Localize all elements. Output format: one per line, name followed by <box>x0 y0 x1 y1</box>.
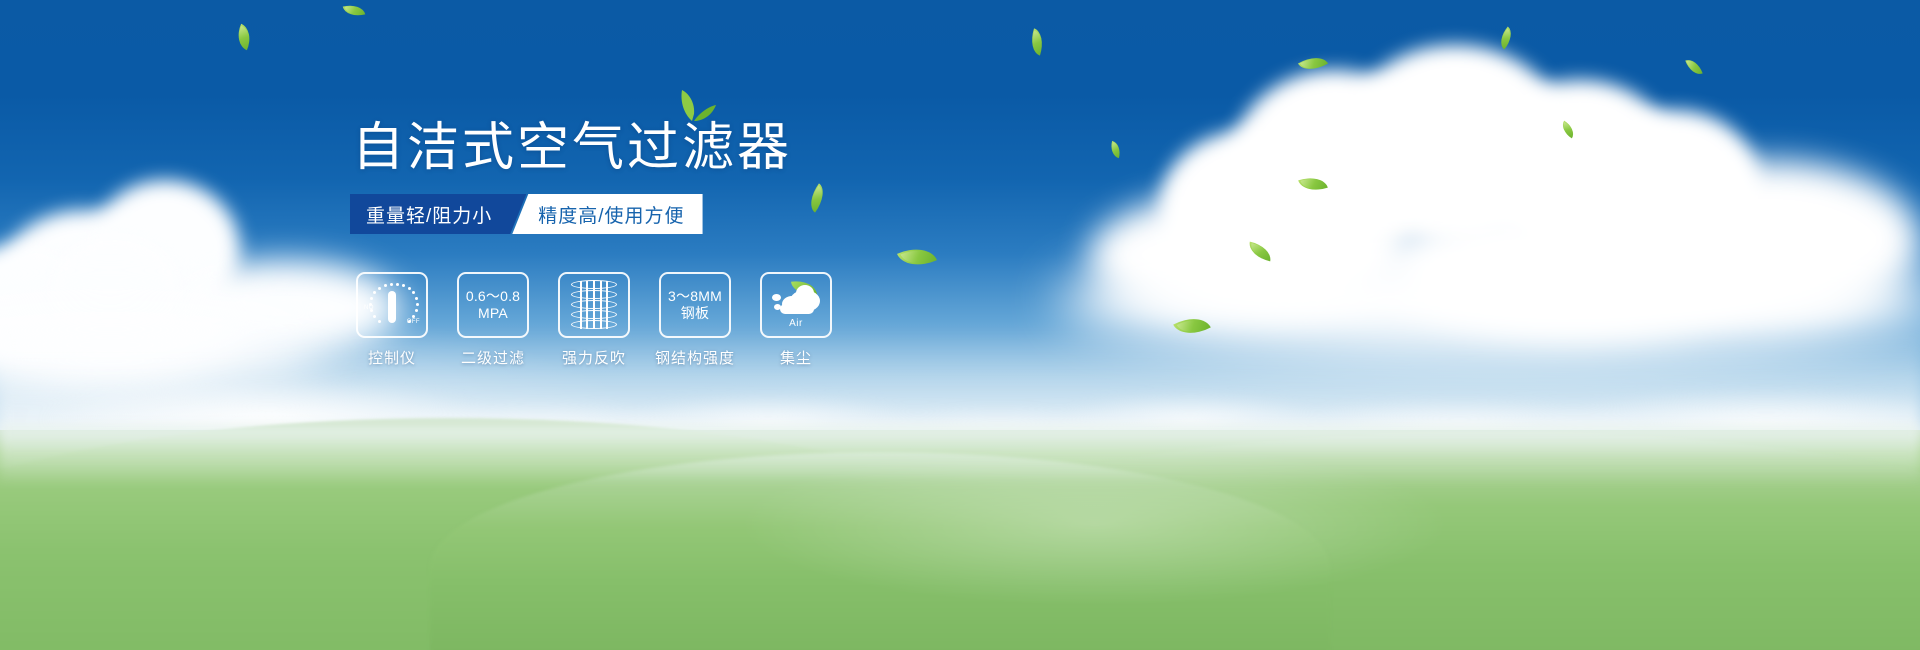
steel-value-line2: 钢板 <box>681 305 709 322</box>
feature-item-controller[interactable]: NO OFF 控制仪 <box>356 272 428 368</box>
feature-box-steel: 3～8MM 钢板 <box>659 272 731 338</box>
feature-item-dust-collection[interactable]: Air 集尘 <box>760 272 832 368</box>
feature-box-pressure: 0.6～0.8 MPA <box>457 272 529 338</box>
title-leaf-icon <box>672 88 716 122</box>
feature-label-steel-strength: 钢结构强度 <box>655 347 735 368</box>
feature-item-steel-strength[interactable]: 3～8MM 钢板 钢结构强度 <box>659 272 731 368</box>
pressure-value-line2: MPA <box>478 305 508 322</box>
badge-lightweight-lowresistance[interactable]: 重量轻/阻力小 <box>350 194 526 234</box>
gauge-off-label: OFF <box>407 319 420 325</box>
feature-label-two-stage-filter: 二级过滤 <box>461 347 525 368</box>
air-cloud-icon: Air <box>770 282 822 328</box>
coil-icon <box>571 279 617 331</box>
gauge-icon: NO OFF <box>363 279 421 331</box>
gauge-no-label: NO <box>364 305 374 311</box>
feature-row: NO OFF 控制仪 0.6～0.8 MPA 二级过滤 <box>356 272 832 368</box>
air-label: Air <box>770 318 822 329</box>
feature-label-dust-collection: 集尘 <box>780 347 812 368</box>
product-banner: 自洁式空气过滤器 重量轻/阻力小 精度高/使用方便 <box>0 0 1920 650</box>
pressure-value-line1: 0.6～0.8 <box>466 288 520 305</box>
feature-item-blowback[interactable]: 强力反吹 <box>558 272 630 368</box>
banner-content: 自洁式空气过滤器 重量轻/阻力小 精度高/使用方便 <box>0 0 1920 650</box>
feature-item-two-stage-filter[interactable]: 0.6～0.8 MPA 二级过滤 <box>457 272 529 368</box>
steel-value-line1: 3～8MM <box>668 288 722 305</box>
badge-precision-easyuse[interactable]: 精度高/使用方便 <box>512 194 702 234</box>
badge-row: 重量轻/阻力小 精度高/使用方便 <box>350 194 703 234</box>
feature-label-controller: 控制仪 <box>368 347 416 368</box>
page-title: 自洁式空气过滤器 <box>352 118 792 178</box>
feature-box-dust: Air <box>760 272 832 338</box>
feature-label-blowback: 强力反吹 <box>562 347 626 368</box>
feature-box-blowback <box>558 272 630 338</box>
feature-box-controller: NO OFF <box>356 272 428 338</box>
